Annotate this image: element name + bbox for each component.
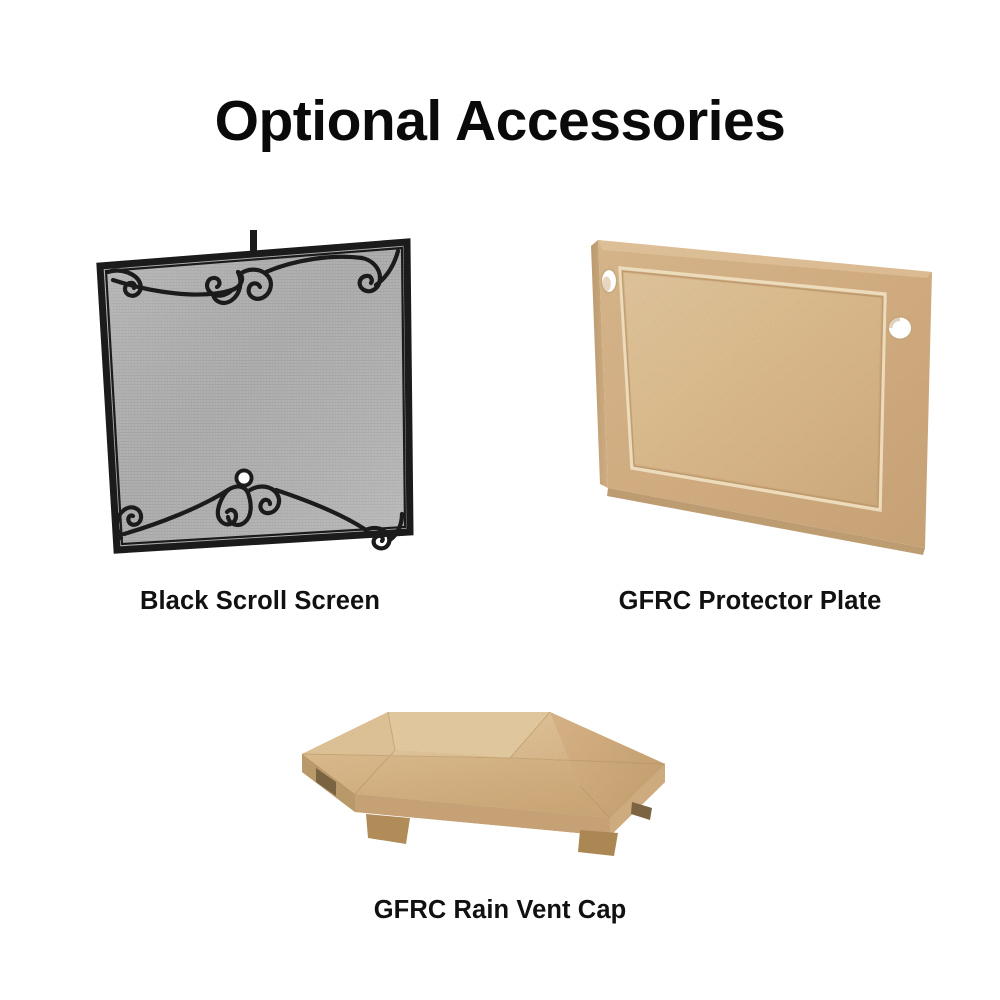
caption-gfrc-protector-plate: GFRC Protector Plate: [550, 587, 950, 615]
product-image-gfrc-rain-vent-cap: [280, 690, 720, 880]
product-image-black-scroll-screen: [80, 228, 425, 568]
black-scroll-screen-illustration: [80, 228, 425, 568]
plate-hole-left: [602, 270, 617, 293]
page-title: Optional Accessories: [0, 92, 1000, 152]
ventcap-foot-front-left: [366, 814, 410, 844]
gfrc-rain-vent-cap-illustration: [280, 690, 720, 880]
page-root: Optional Accessories: [0, 0, 1000, 1000]
caption-black-scroll-screen: Black Scroll Screen: [60, 587, 460, 615]
plate-hole-right: [889, 317, 912, 339]
screen-center-ring: [235, 469, 254, 488]
product-image-gfrc-protector-plate: [580, 228, 940, 573]
caption-gfrc-rain-vent-cap: GFRC Rain Vent Cap: [300, 896, 700, 924]
ventcap-foot-front-right: [578, 830, 618, 856]
gfrc-protector-plate-illustration: [580, 228, 940, 573]
